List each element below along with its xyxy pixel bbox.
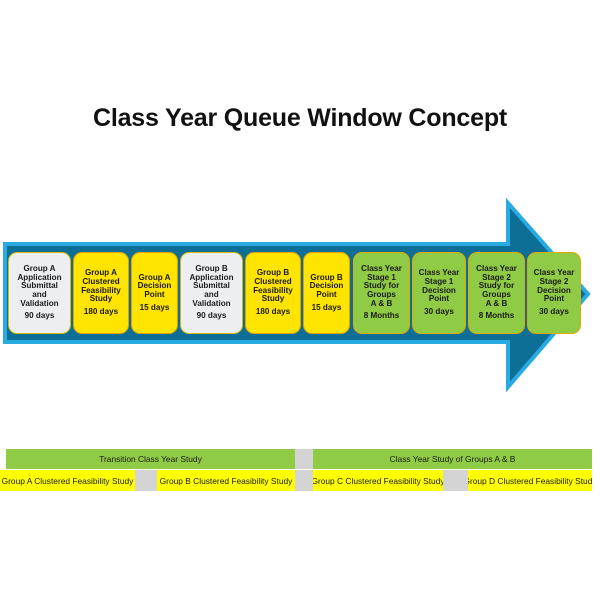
bar-segment-yellow-gap-2 [295,470,313,491]
bar-segment-transition-class-year-study[interactable]: Transition Class Year Study [6,449,295,469]
timeline-box-group-a-application-submittal-and-validation[interactable]: Group AApplicationSubmittalandValidation… [8,252,71,334]
timeline-box-group-b-application-submittal-and-validation[interactable]: Group BApplicationSubmittalandValidation… [180,252,243,334]
timeline-box-label: Point [544,295,564,304]
bar-segment-group-b-clustered-feasibility-study-bar[interactable]: Group B Clustered Feasibility Study [157,470,295,491]
timeline-box-duration: 180 days [256,308,290,317]
bar-segment-green-gap-1 [295,449,313,469]
timeline-box-duration: 180 days [84,308,118,317]
timeline-box-group-a-clustered-feasibility-study[interactable]: Group AClusteredFeasibilityStudy180 days [73,252,129,334]
page-title: Class Year Queue Window Concept [0,104,600,133]
bar-segment-group-c-clustered-feasibility-study-bar[interactable]: Group C Clustered Feasibility Study [313,470,443,491]
bar-segment-yellow-gap-3 [443,470,468,491]
timeline-box-class-year-stage-1-study-for-groups-a-and-b[interactable]: Class YearStage 1Study forGroupsA & B8 M… [353,252,410,334]
timeline-box-label: Study [90,295,112,304]
timeline-box-duration: 90 days [197,312,227,321]
bar-segment-class-year-study-of-groups-a-and-b[interactable]: Class Year Study of Groups A & B [313,449,592,469]
timeline-box-duration: 8 Months [364,312,400,321]
timeline-box-duration: 30 days [539,308,569,317]
timeline-boxes: Group AApplicationSubmittalandValidation… [0,252,600,334]
timeline-box-duration: 8 Months [479,312,515,321]
timeline-box-label: Point [316,291,336,300]
timeline-box-label: A & B [486,300,508,309]
timeline-box-label: A & B [371,300,393,309]
timeline-box-label: Validation [20,300,58,309]
timeline-box-group-a-decision-point[interactable]: Group ADecisionPoint15 days [131,252,178,334]
timeline-box-label: Point [429,295,449,304]
timeline-box-duration: 90 days [25,312,55,321]
timeline-box-label: Study [262,295,284,304]
timeline-box-duration: 15 days [312,304,342,313]
timeline-box-class-year-stage-2-decision-point[interactable]: Class YearStage 2DecisionPoint30 days [527,252,581,334]
bar-segment-group-d-clustered-feasibility-study-bar[interactable]: Group D Clustered Feasibility Study [468,470,592,491]
bar-segment-yellow-gap-1 [135,470,157,491]
timeline-box-duration: 30 days [424,308,454,317]
timeline-box-class-year-stage-1-decision-point[interactable]: Class YearStage 1DecisionPoint30 days [412,252,466,334]
timeline-box-label: Validation [192,300,230,309]
timeline-box-group-b-clustered-feasibility-study[interactable]: Group BClusteredFeasibilityStudy180 days [245,252,301,334]
timeline-box-class-year-stage-2-study-for-groups-a-and-b[interactable]: Class YearStage 2Study forGroupsA & B8 M… [468,252,525,334]
bar-segment-group-a-clustered-feasibility-study-bar[interactable]: Group A Clustered Feasibility Study [0,470,135,491]
timeline-box-group-b-decision-point[interactable]: Group BDecisionPoint15 days [303,252,350,334]
timeline-box-label: Point [144,291,164,300]
timeline-box-duration: 15 days [140,304,170,313]
bottom-bars: Transition Class Year StudyClass Year St… [0,449,600,491]
